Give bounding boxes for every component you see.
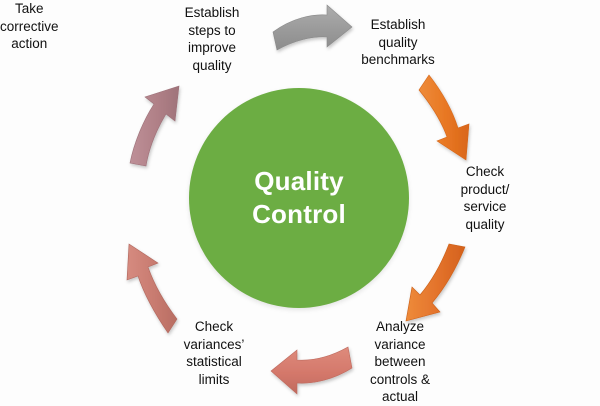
arrow-lower-right-orange-icon (406, 244, 465, 321)
quality-control-hub: Quality Control (189, 88, 409, 308)
step-label-check-variances-statistical-limits: Check variances’ statistical limits (162, 318, 266, 388)
hub-title-line-2: Control (252, 198, 346, 231)
quality-control-cycle-diagram: Quality Control Establish steps to impro… (0, 0, 600, 403)
arrow-upper-right-orange-icon (419, 75, 469, 160)
step-label-establish-steps-to-improve-quality: Establish steps to improve quality (160, 4, 264, 74)
arrow-bottom-salmon-icon (271, 347, 352, 394)
step-label-analyze-variance-between-controls-actual: Analyze variance between controls & actu… (348, 318, 452, 406)
step-label-take-corrective-action: Take corrective action (0, 0, 59, 53)
step-label-establish-quality-benchmarks: Establish quality benchmarks (346, 16, 450, 69)
arrow-upper-left-mauve-icon (130, 86, 179, 166)
hub-title-line-1: Quality (254, 165, 344, 198)
step-label-check-product-service-quality: Check product/ service quality (437, 163, 533, 233)
arrow-top-gray-icon (273, 5, 352, 50)
